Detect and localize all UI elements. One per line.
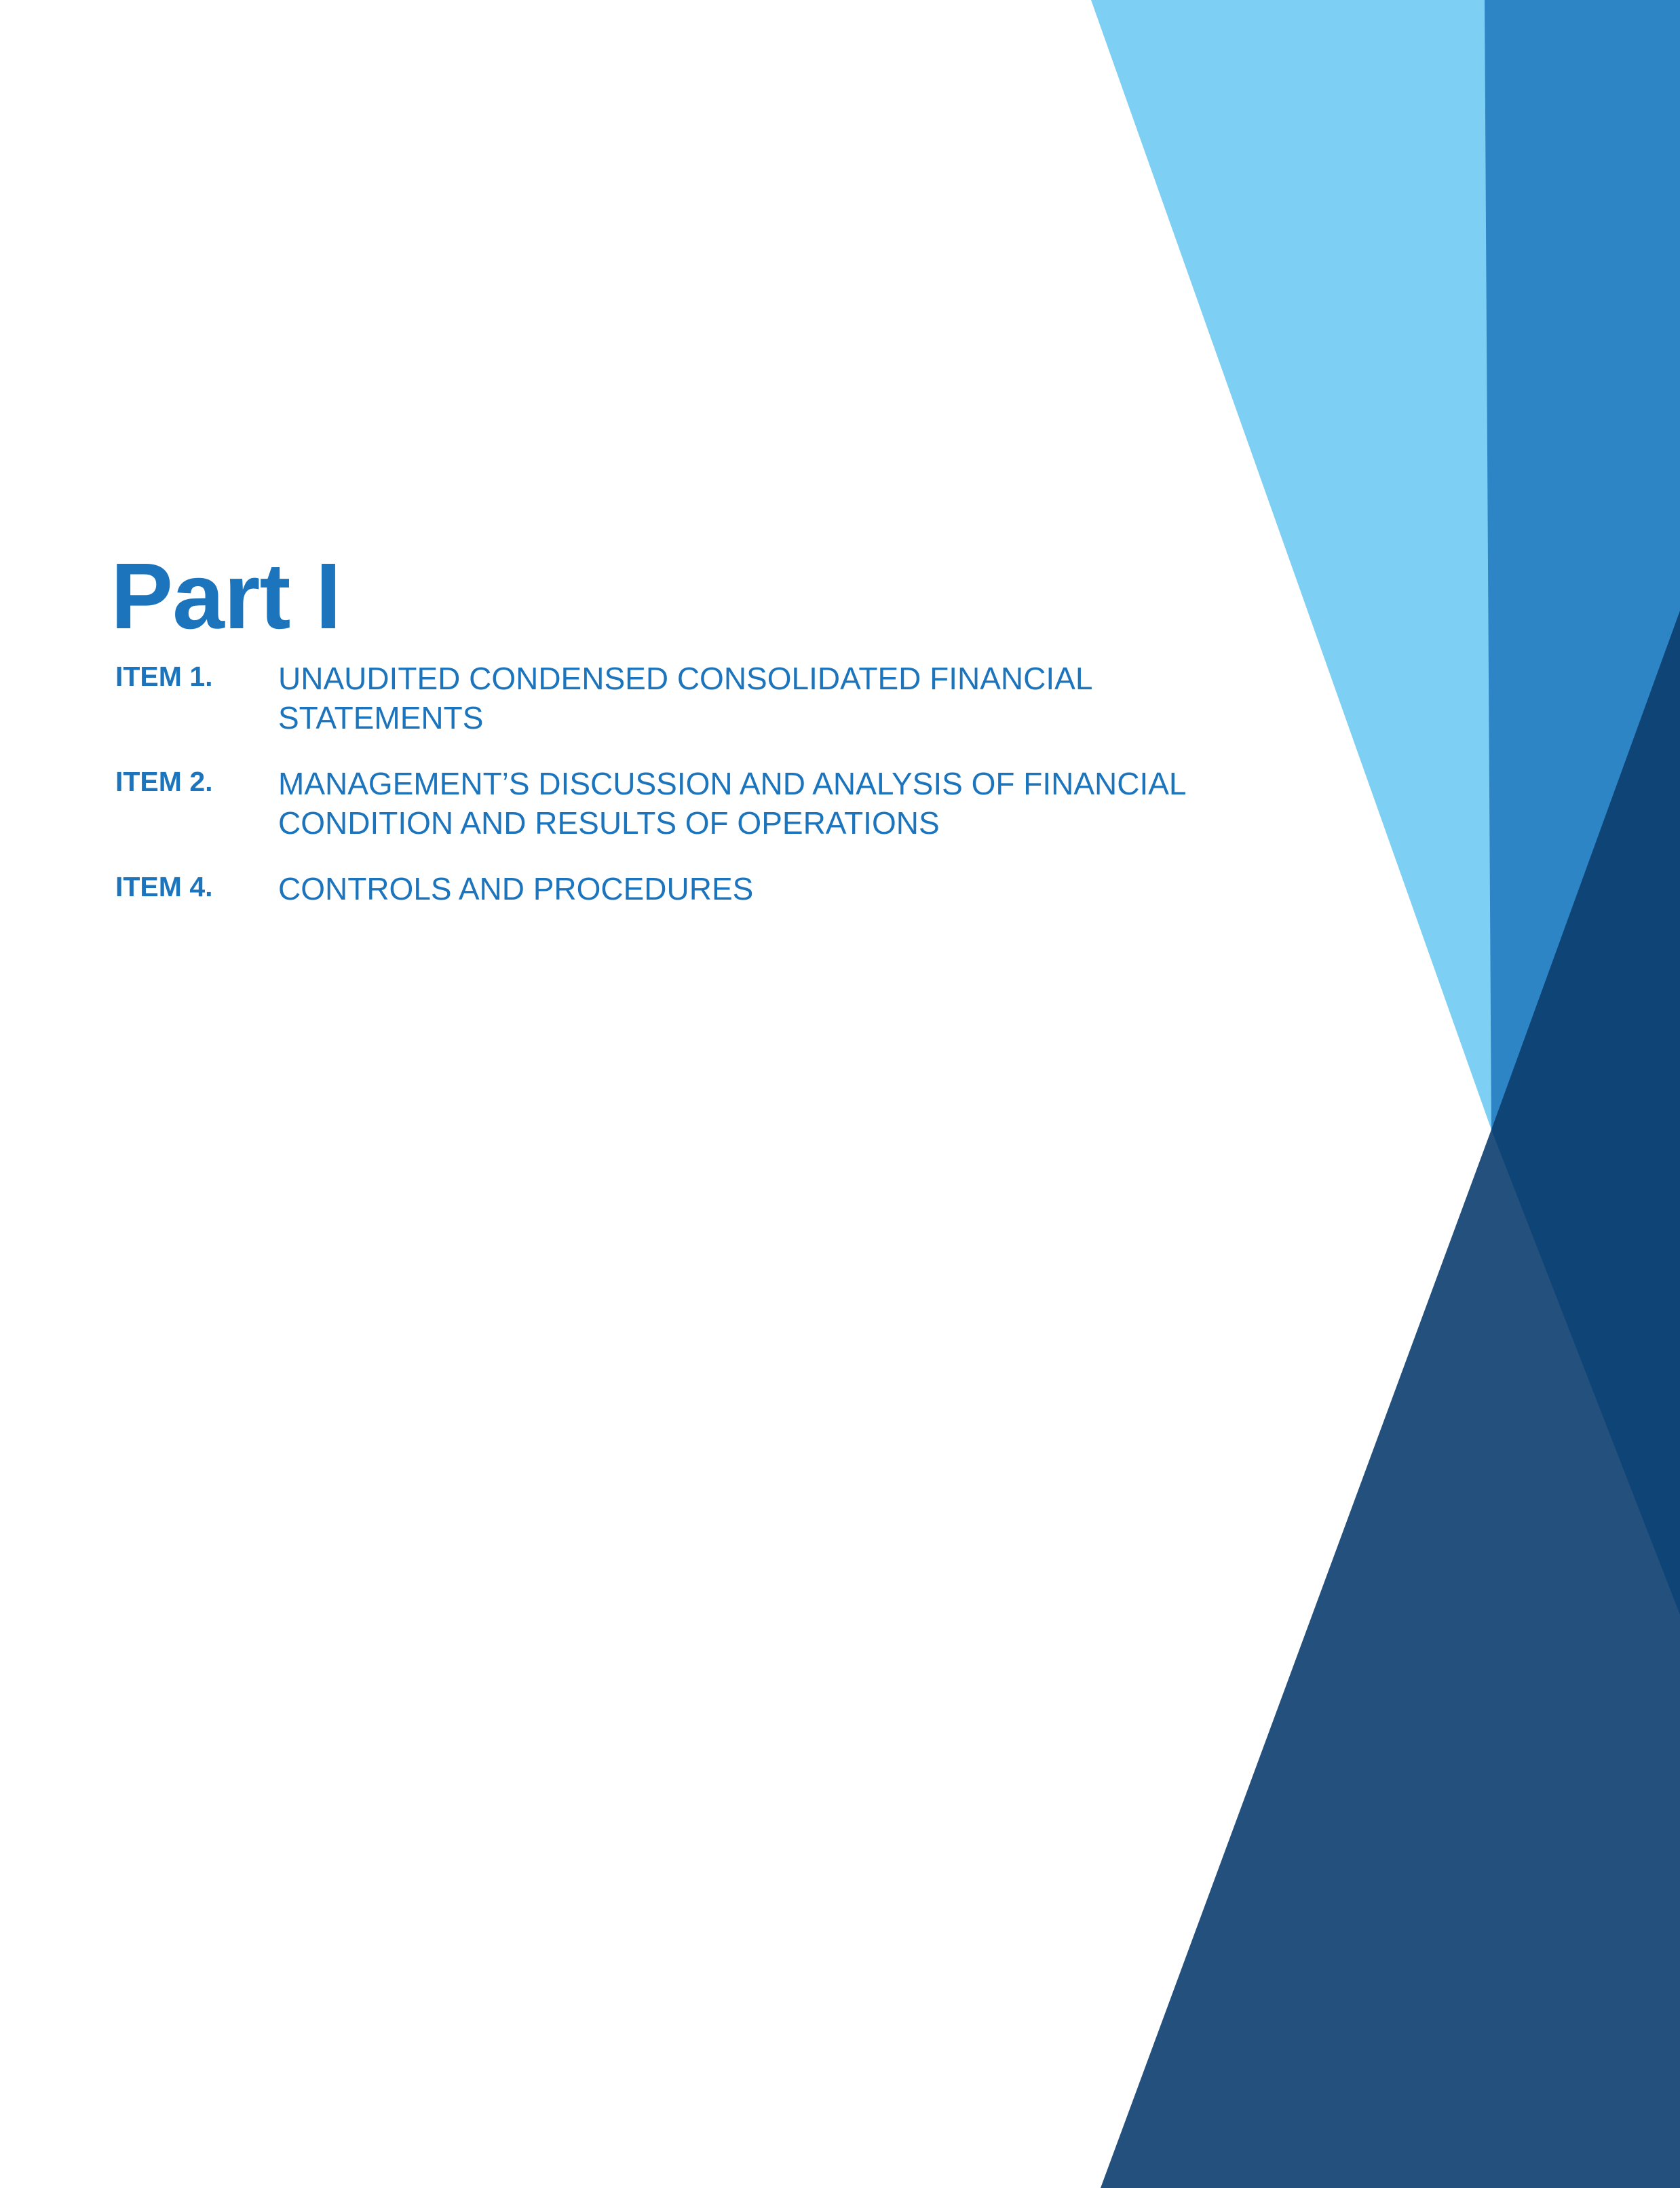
page-content: Part I ITEM 1. UNAUDITED CONDENSED CONSO…	[0, 0, 1680, 2188]
table-of-contents: ITEM 1. UNAUDITED CONDENSED CONSOLIDATED…	[115, 659, 1269, 909]
toc-item-label: ITEM 4.	[115, 870, 278, 904]
toc-entry-item-2[interactable]: ITEM 2. MANAGEMENT’S DISCUSSION AND ANAL…	[115, 765, 1269, 843]
toc-entry-item-4[interactable]: ITEM 4. CONTROLS AND PROCEDURES	[115, 870, 1269, 909]
toc-entry-item-1[interactable]: ITEM 1. UNAUDITED CONDENSED CONSOLIDATED…	[115, 659, 1269, 737]
page-title: Part I	[111, 548, 341, 646]
toc-item-description: UNAUDITED CONDENSED CONSOLIDATED FINANCI…	[278, 659, 1208, 737]
toc-item-description: CONTROLS AND PROCEDURES	[278, 870, 1208, 909]
toc-item-label: ITEM 1.	[115, 659, 278, 693]
toc-item-description: MANAGEMENT’S DISCUSSION AND ANALYSIS OF …	[278, 765, 1208, 843]
document-page: Part I ITEM 1. UNAUDITED CONDENSED CONSO…	[0, 0, 1680, 2188]
toc-item-label: ITEM 2.	[115, 765, 278, 799]
